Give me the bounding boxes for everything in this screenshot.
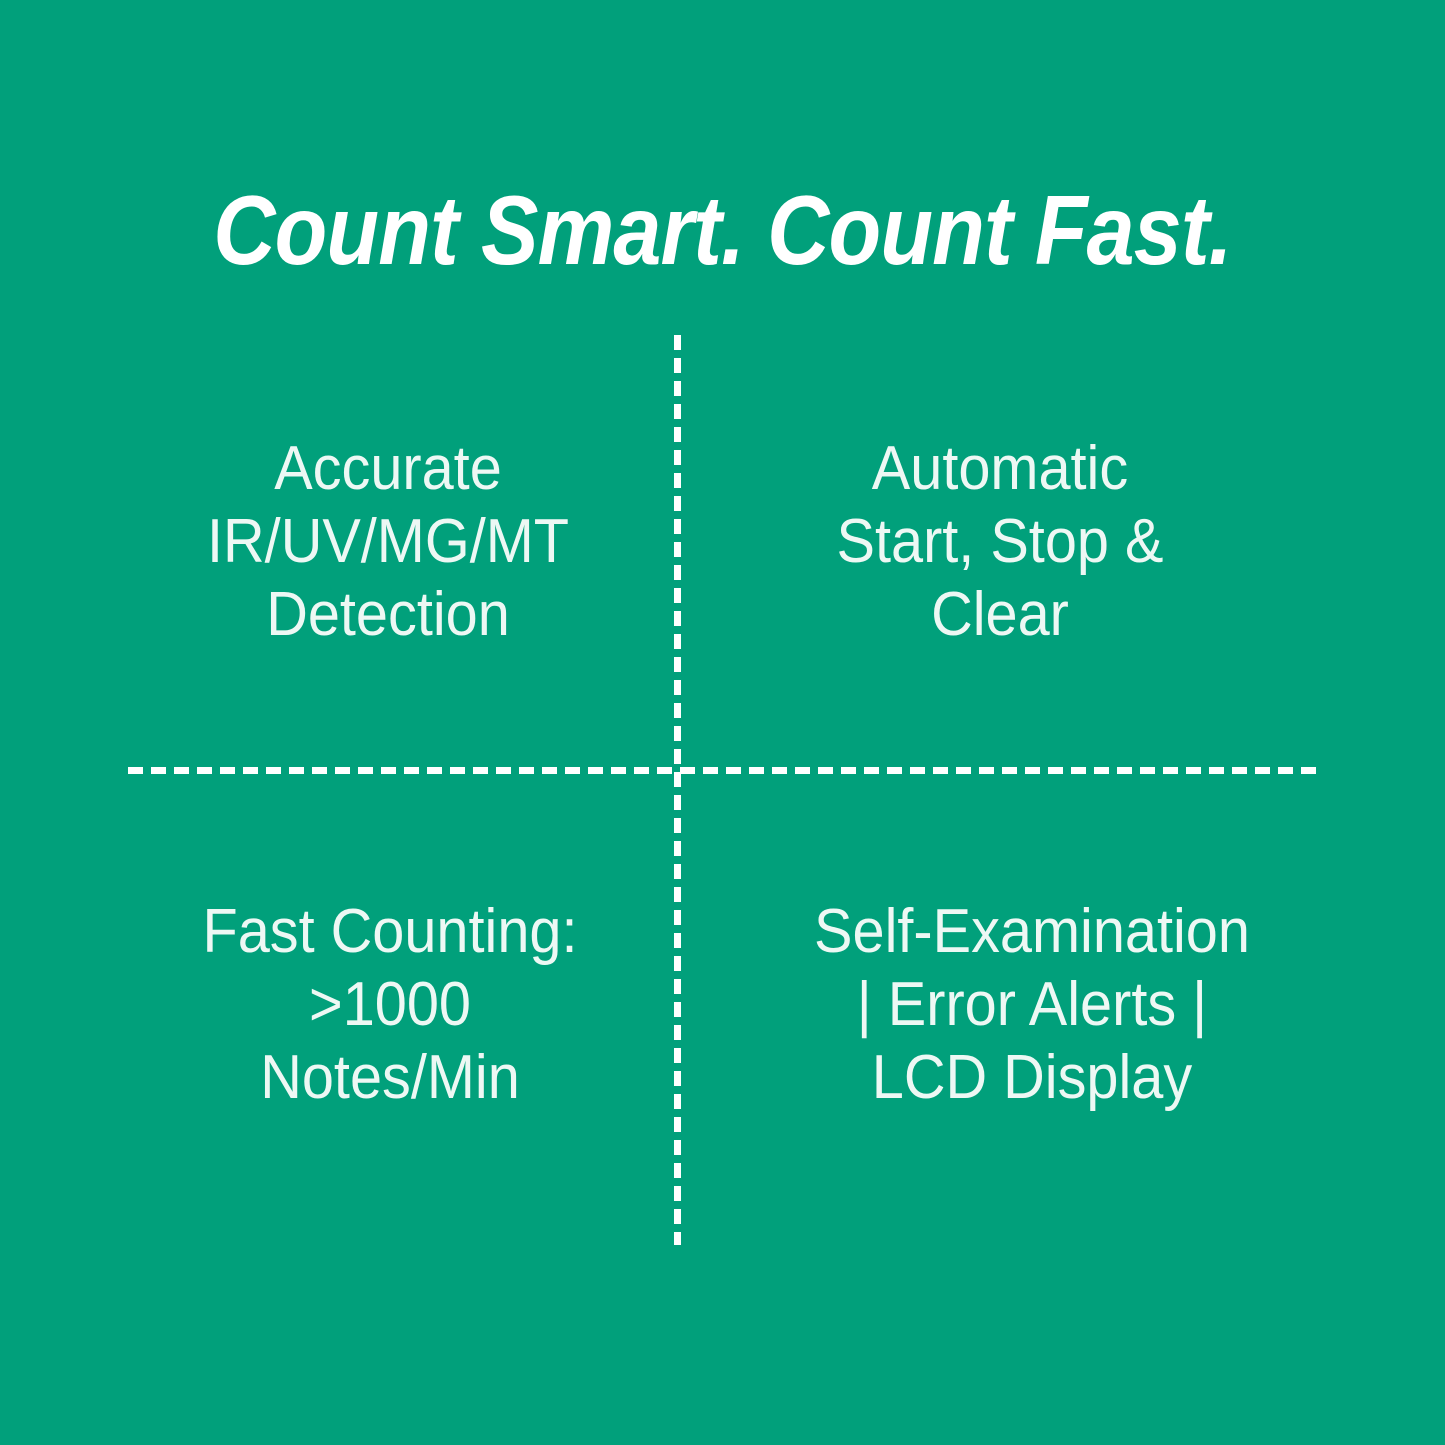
- feature-fast-counting: Fast Counting: >1000 Notes/Min: [167, 895, 613, 1114]
- feature-automatic-controls: Automatic Start, Stop & Clear: [777, 432, 1223, 651]
- dashed-horizontal-divider: [128, 767, 1316, 774]
- dashed-vertical-divider: [674, 335, 681, 1245]
- feature-accurate-detection: Accurate IR/UV/MG/MT Detection: [165, 432, 611, 651]
- page-title: Count Smart. Count Fast.: [87, 178, 1359, 282]
- promo-poster: Count Smart. Count Fast. Accurate IR/UV/…: [0, 0, 1445, 1445]
- feature-self-examination: Self-Examination | Error Alerts | LCD Di…: [790, 895, 1274, 1114]
